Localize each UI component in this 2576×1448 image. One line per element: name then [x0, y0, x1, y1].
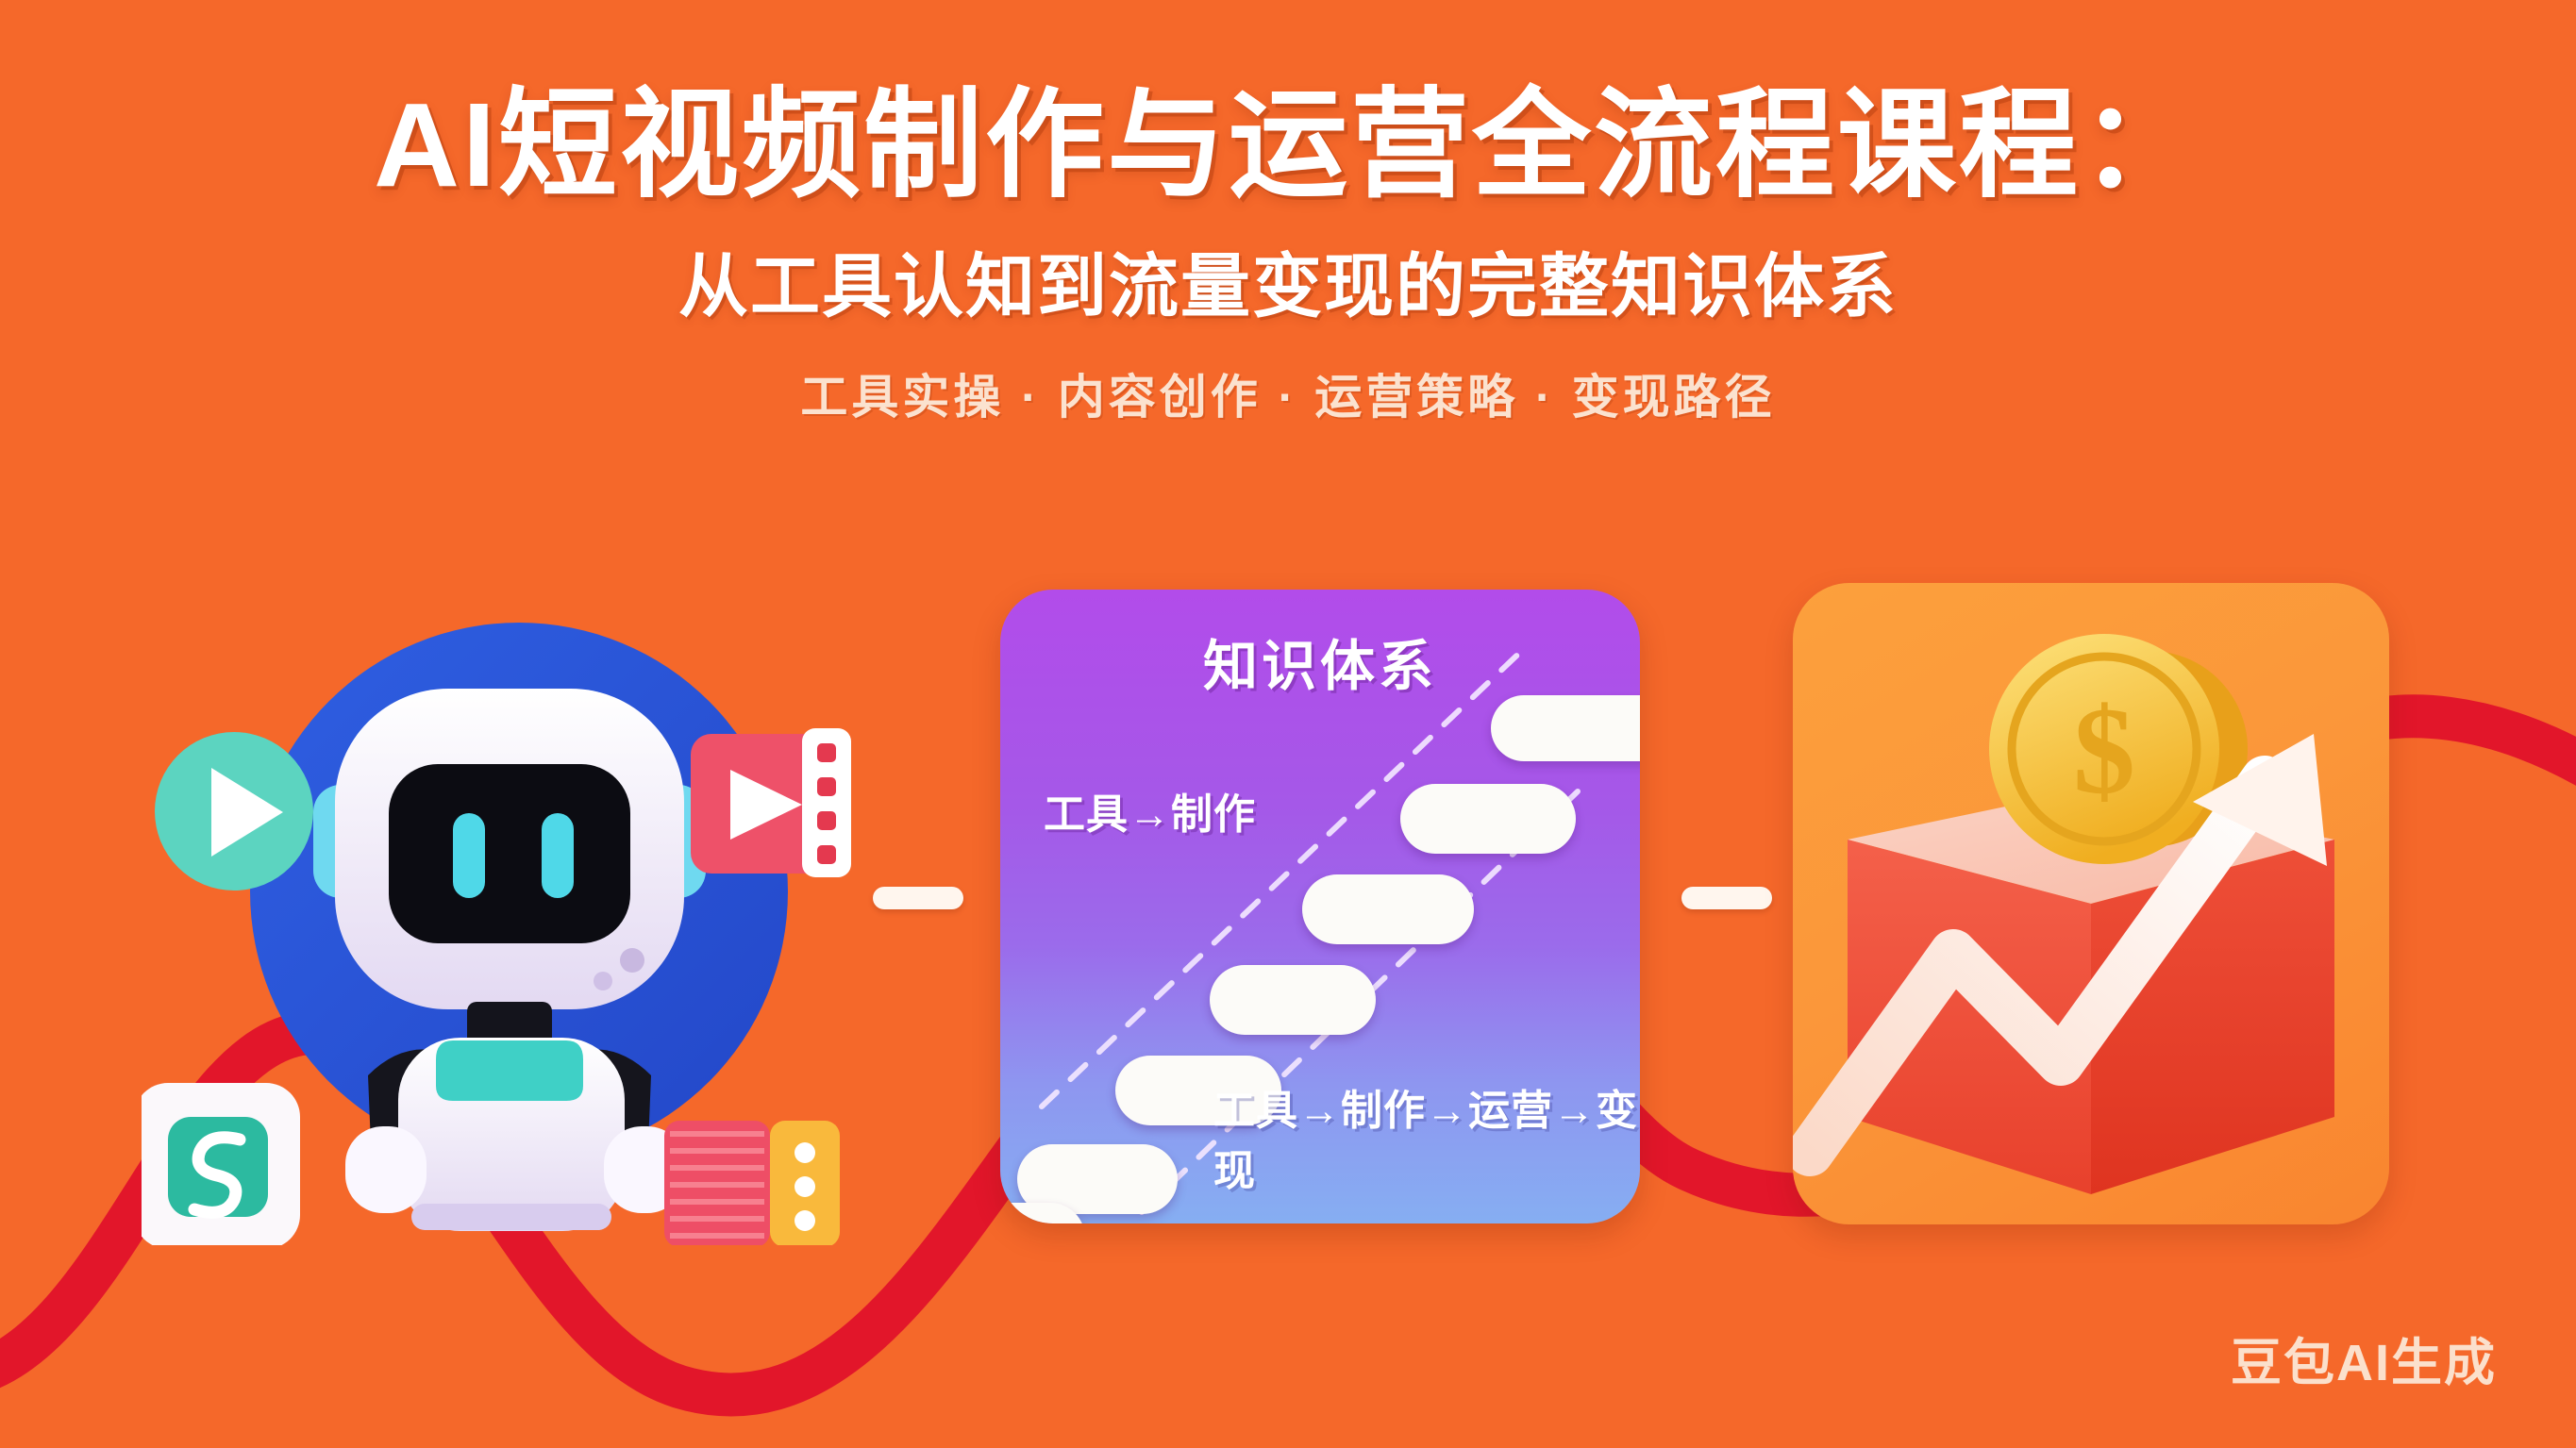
editor-app-icon	[142, 1083, 300, 1245]
robot-face-screen	[389, 764, 630, 943]
knowledge-label-bottom: 工具→制作→运营→变现	[1213, 1076, 1640, 1197]
robot-cheek-dot-2	[594, 972, 612, 990]
header-block: AI短视频制作与运营全流程课程： 从工具认知到流量变现的完整知识体系 工具实操 …	[0, 0, 2576, 427]
knowledge-step-pill	[1210, 965, 1376, 1035]
robot-eye-left	[453, 813, 485, 898]
robot-arm-left	[345, 1126, 427, 1213]
knowledge-step-pill	[1400, 784, 1576, 854]
svg-text:$: $	[2073, 681, 2135, 820]
page-tagline: 工具实操 · 内容创作 · 运营策略 · 变现路径	[0, 359, 2576, 427]
knowledge-label-top: 工具→制作	[1044, 780, 1256, 841]
separator-dash-1	[873, 887, 963, 909]
play-button-icon	[155, 732, 313, 890]
separator-dash-2	[1681, 887, 1772, 909]
knowledge-card-title: 知识体系	[1000, 622, 1640, 701]
page-subtitle: 从工具认知到流量变现的完整知识体系	[0, 230, 2576, 331]
page-title: AI短视频制作与运营全流程课程：	[0, 81, 2576, 209]
knowledge-step-pill	[1491, 695, 1640, 761]
video-clip-icon	[691, 728, 851, 877]
knowledge-step-pill	[1302, 874, 1474, 944]
watermark-label: 豆包AI生成	[2231, 1321, 2497, 1395]
robot-cheek-dot-1	[620, 948, 644, 973]
knowledge-system-card: 知识体系 工具→制作 工具→制作→运营→变现	[1000, 590, 1640, 1223]
film-card-icon	[664, 1121, 840, 1245]
robot-eye-right	[542, 813, 574, 898]
robot-chest-plate	[436, 1040, 583, 1101]
ai-robot-illustration	[142, 566, 887, 1245]
monetization-card: $	[1793, 583, 2389, 1224]
robot-belt	[411, 1204, 611, 1230]
illustration-row: 知识体系 工具→制作 工具→制作→运营→变现	[0, 566, 2576, 1245]
